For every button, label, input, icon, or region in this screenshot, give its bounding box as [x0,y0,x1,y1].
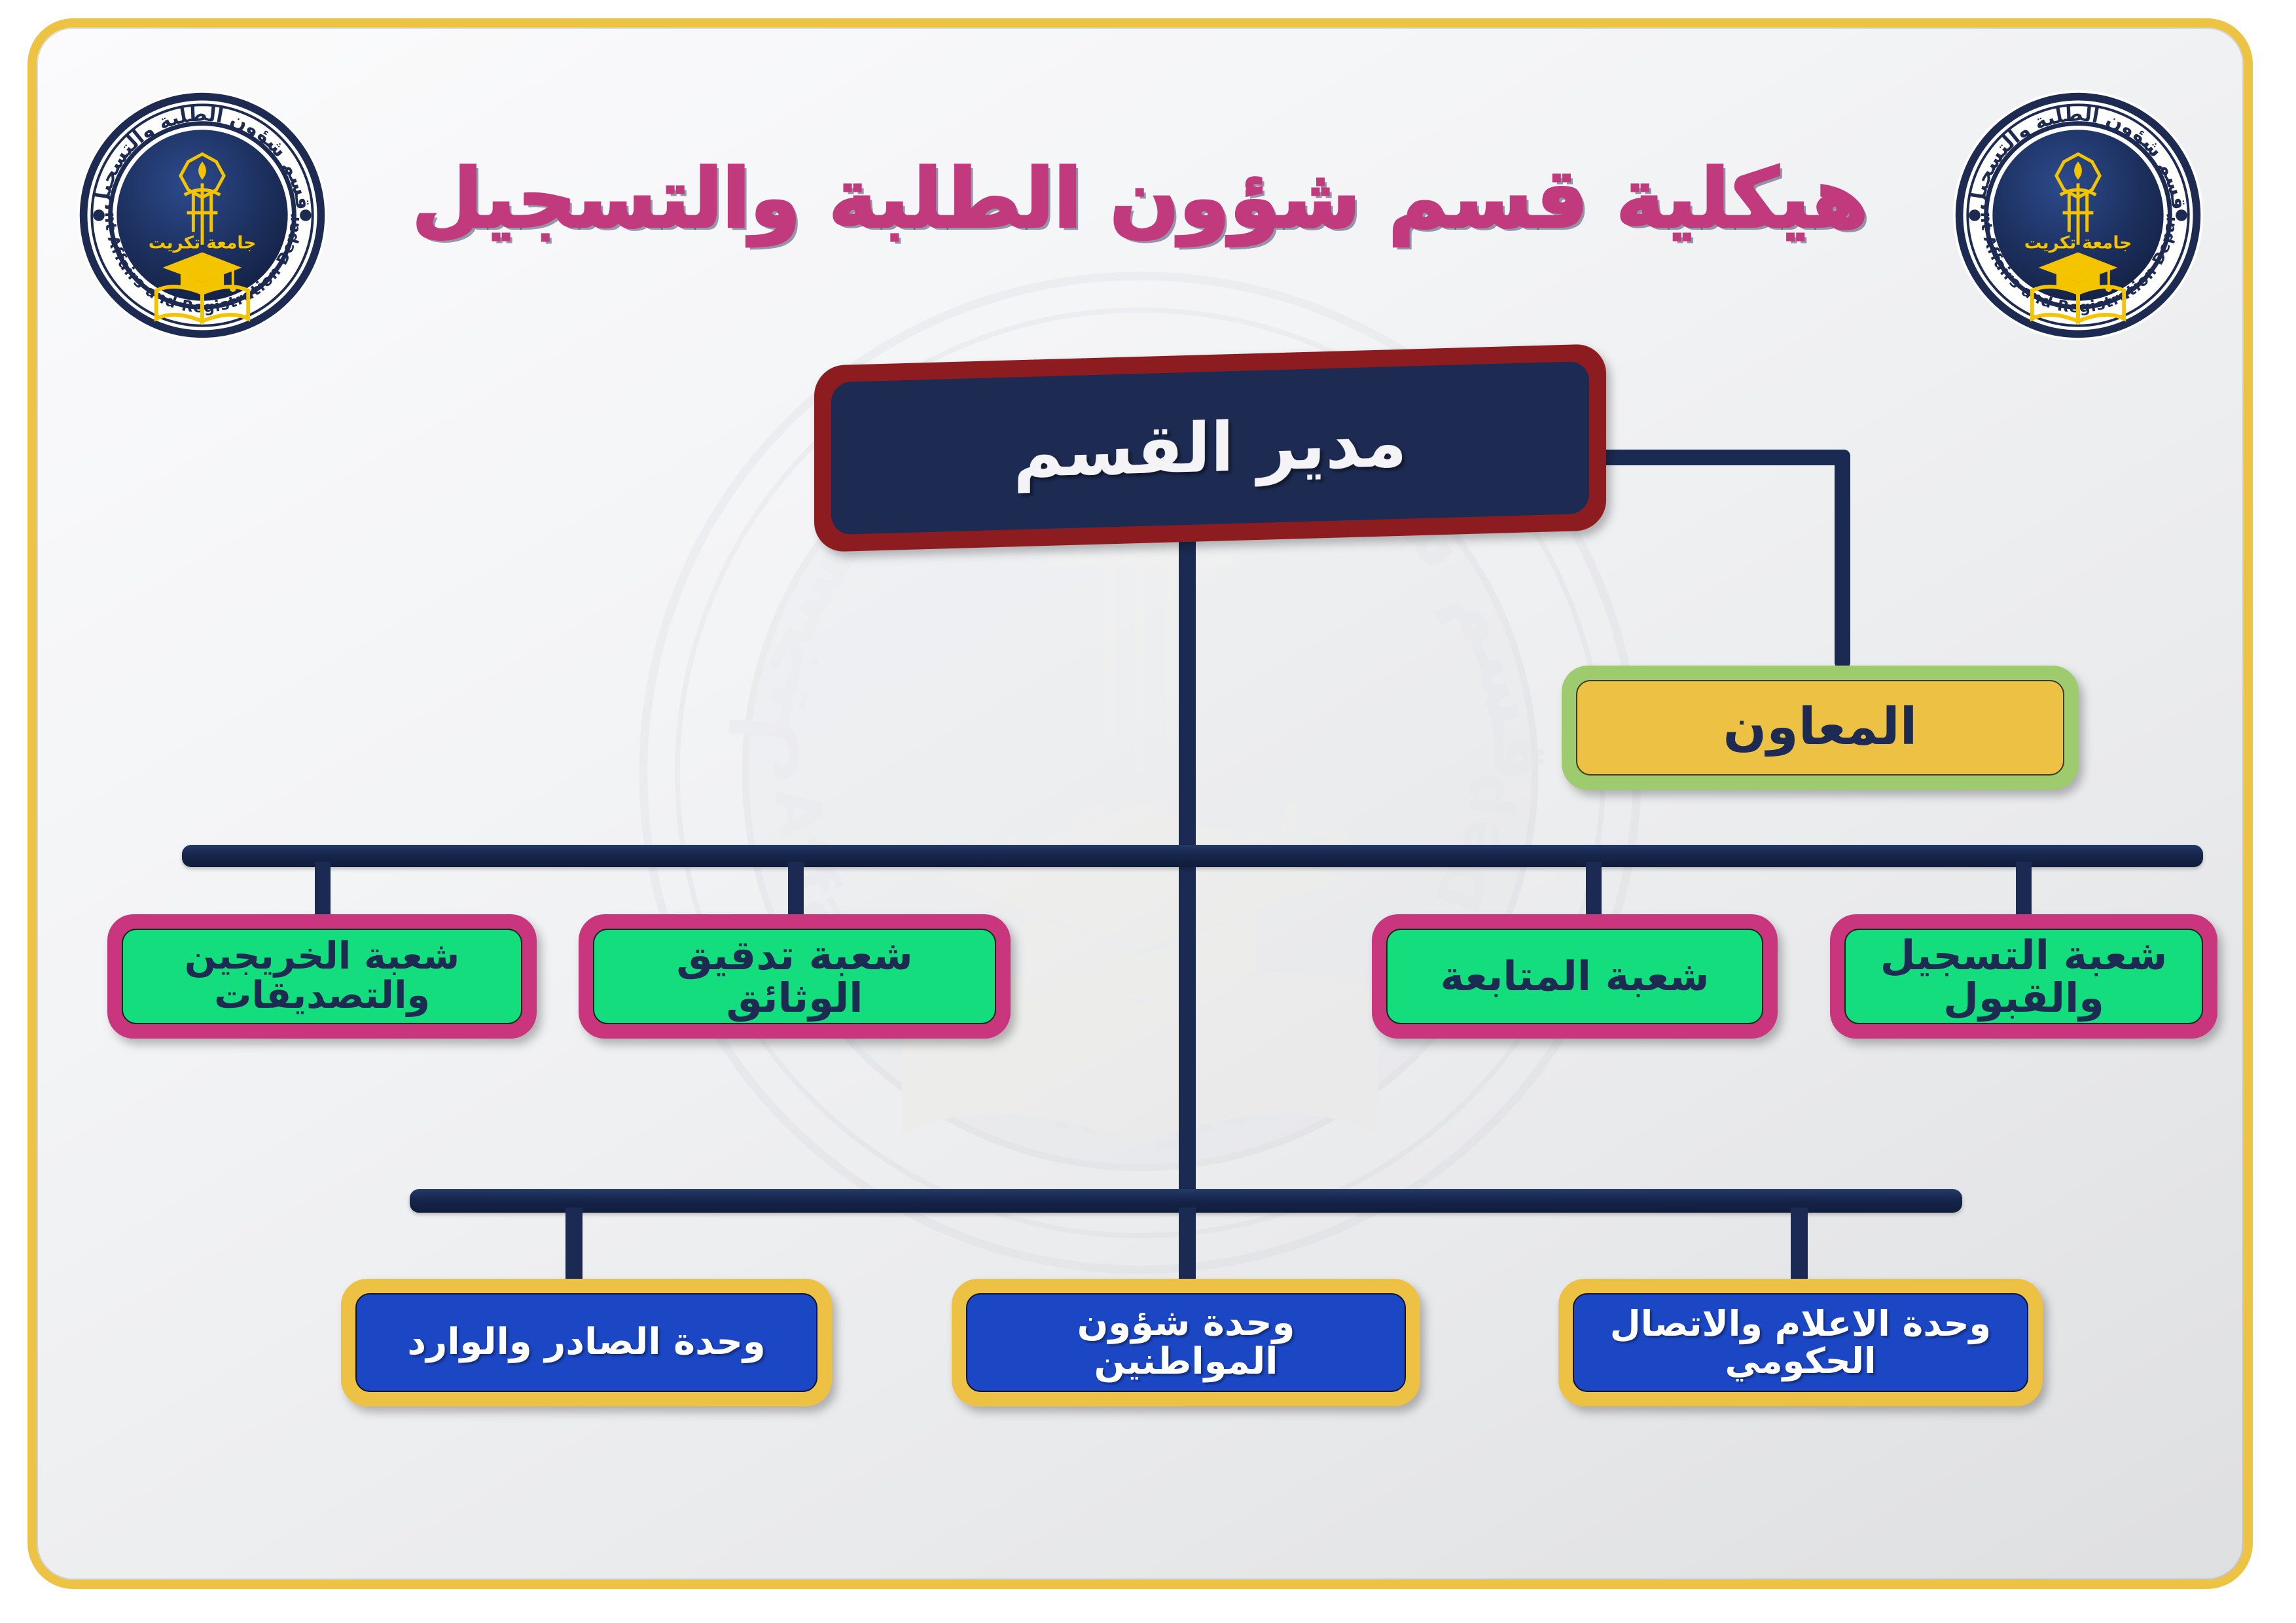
org-node-assistant[interactable]: المعاون [1562,666,2079,790]
org-node-citizens-affairs-label: وحدة شؤون المواطنين [966,1293,1406,1392]
org-node-followup-label: شعبة المتابعة [1386,929,1763,1024]
org-node-director-label: مدير القسم [831,361,1589,535]
connector-bus-divisions [182,845,2203,867]
org-node-media-gov-comm[interactable]: وحدة الاعلام والاتصال الحكومي [1558,1279,2043,1406]
org-node-citizens-affairs[interactable]: وحدة شؤون المواطنين [952,1279,1420,1406]
org-node-outgoing-incoming-label: وحدة الصادر والوارد [355,1293,817,1392]
connector-director-to-assistant-horizontal [1577,450,1850,465]
org-node-assistant-label: المعاون [1576,680,2064,776]
connector-director-trunk [1179,513,1196,1289]
poster-frame: قسم شؤون الطلبة والتسجيل Student Affairs… [27,18,2253,1589]
org-node-outgoing-incoming[interactable]: وحدة الصادر والوارد [341,1279,832,1406]
org-node-graduates-certifications[interactable]: شعبة الخريجين والتصديقات [107,914,537,1039]
poster-page: قسم شؤون الطلبة والتسجيل Student Affairs… [0,0,2296,1623]
connector-director-to-assistant-vertical [1835,450,1850,669]
org-node-followup[interactable]: شعبة المتابعة [1372,914,1778,1039]
org-node-registration-admission[interactable]: شعبة التسجيل والقبول [1830,914,2217,1039]
org-node-graduates-certifications-label: شعبة الخريجين والتصديقات [122,929,522,1024]
org-node-registration-admission-label: شعبة التسجيل والقبول [1844,929,2203,1024]
org-node-document-audit[interactable]: شعبة تدقيق الوثائق [579,914,1011,1039]
page-title: هيكلية قسم شؤون الطلبة والتسجيل [37,152,2244,246]
org-node-document-audit-label: شعبة تدقيق الوثائق [593,929,996,1024]
org-node-media-gov-comm-label: وحدة الاعلام والاتصال الحكومي [1573,1293,2028,1392]
org-node-director[interactable]: مدير القسم [814,344,1606,552]
